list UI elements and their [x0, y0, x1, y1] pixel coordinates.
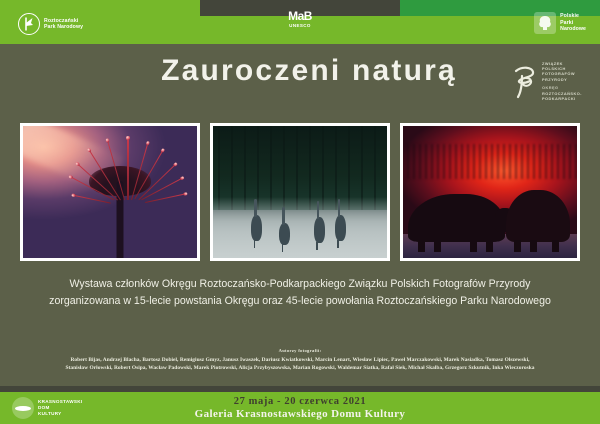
bottom-banner: KRASNOSTAWSKI DOM KULTURY 27 maja - 20 c…: [0, 392, 600, 424]
zpfp-mark-icon: [512, 62, 538, 100]
zpfp-line7: PODKARPACKI: [542, 96, 582, 101]
bison-left: [408, 194, 505, 242]
logo-ppn-line3: Narodowe: [560, 26, 586, 33]
logo-ppn-label: Polskie Parki Narodowe: [560, 13, 586, 33]
exhibition-poster: Roztoczański Park Narodowy MaB UNESCO Po…: [0, 0, 600, 424]
national-parks-emblem-icon: [534, 12, 556, 34]
authors-line-1: Robert Bijas, Andrzej Blacha, Bartosz Do…: [22, 356, 578, 364]
photo-frame-2: [210, 123, 390, 261]
event-venue: Galeria Krasnostawskiego Domu Kultury: [0, 408, 600, 421]
logo-polskie-parki-narodowe: Polskie Parki Narodowe: [534, 12, 586, 34]
description-line-2: zorganizowana w 15-lecie powstania Okręg…: [22, 293, 578, 310]
exhibition-description: Wystawa członków Okręgu Roztoczańsko-Pod…: [22, 276, 578, 310]
logo-mab-unesco: MaB UNESCO: [277, 10, 323, 40]
authors-list: Robert Bijas, Andrzej Blacha, Bartosz Do…: [22, 356, 578, 373]
mist-layer: [213, 197, 387, 258]
park-emblem-icon: [18, 13, 40, 35]
event-date: 27 maja - 20 czerwca 2021: [0, 395, 600, 408]
logo-park-label: Roztoczański Park Narodowy: [44, 18, 83, 31]
event-info: 27 maja - 20 czerwca 2021 Galeria Krasno…: [0, 395, 600, 421]
zpfp-line4: PRZYRODY: [542, 77, 582, 82]
logo-mab-sub: UNESCO: [277, 23, 323, 29]
photo-bison-at-sunset: [403, 126, 577, 258]
logo-park-line2: Park Narodowy: [44, 24, 83, 31]
zpfp-mark-glyph: [512, 62, 538, 100]
bison-right: [506, 190, 570, 242]
crane-3: [314, 217, 325, 243]
crane-1: [251, 215, 262, 241]
zpfp-label: ZWIĄZEK POLSKICH FOTOGRAFÓW PRZYRODY OKR…: [542, 61, 582, 102]
logo-mab-word: MaB: [277, 10, 323, 23]
photo-gallery: [20, 123, 582, 261]
park-emblem-glyph: [19, 14, 39, 34]
photo-frame-1: [20, 123, 200, 261]
photo-frame-3: [400, 123, 580, 261]
authors-line-2: Stanisław Orłowski, Robert Osipa, Wacław…: [22, 364, 578, 372]
crane-4: [335, 215, 346, 241]
photo-sundew-at-dusk: [23, 126, 197, 258]
logo-roztoczanski-park-narodowy: Roztoczański Park Narodowy: [18, 13, 83, 35]
authors-heading: Autorzy fotografii:: [22, 348, 578, 353]
poster-title: Zauroczeni naturą: [0, 54, 600, 88]
description-line-1: Wystawa członków Okręgu Roztoczańsko-Pod…: [22, 276, 578, 293]
crane-2: [279, 223, 290, 245]
logo-zpfp: ZWIĄZEK POLSKICH FOTOGRAFÓW PRZYRODY OKR…: [512, 58, 596, 104]
national-parks-emblem-glyph: [534, 12, 556, 34]
treeline: [403, 144, 577, 178]
photo-cranes-in-mist: [213, 126, 387, 258]
zpfp-line5: OKRĘG: [542, 85, 582, 90]
